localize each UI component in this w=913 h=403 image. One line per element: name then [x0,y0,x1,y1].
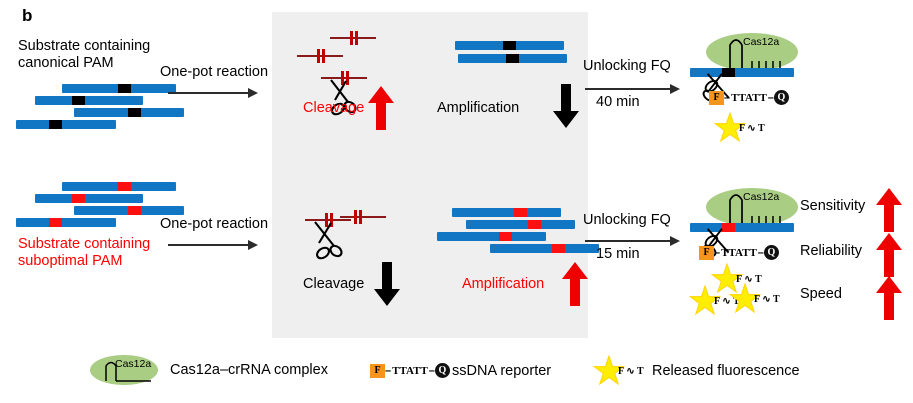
released-fluorescence-bottom-3: F ∿ T [728,283,762,322]
cas-label-top: Cas12a [743,36,779,48]
legend-wave-icon: ∿ [626,366,634,377]
cas-label-bottom: Cas12a [743,191,779,203]
fluor-f-top: F [739,123,745,134]
released-fluorescence-bottom-2: F ∿ T [688,285,722,324]
legend-label-fluorescence: Released fluorescence [652,363,800,379]
wave-icon-top: ∿ [747,123,755,134]
quencher-box-bottom: Q [764,245,779,260]
cleavage-label-bottom: Cleavage [303,276,364,293]
cleavage-trend-arrow-bottom [374,262,400,306]
amplification-label-bottom: Amplification [462,276,544,293]
ssdna-reporter-bottom: F – TTATT – Q [699,245,779,260]
amplification-trend-arrow-top [553,84,579,128]
outcome-label-speed: Speed [800,286,842,302]
reaction-arrow-shaft-bottom [168,244,249,246]
quencher-box-top: Q [774,90,789,105]
unlock-time-top: 40 min [596,94,640,111]
substrate-label-canonical: Substrate containing canonical PAM [18,38,150,72]
outcome-label-sensitivity: Sensitivity [800,198,865,214]
legend-quencher-box: Q [435,363,450,378]
outcome-trend-reliability [876,233,902,277]
cleavage-label-top: Cleavage [303,100,364,117]
legend-fluorophore-box: F [370,364,385,378]
unlock-time-bottom: 15 min [596,246,640,263]
unlock-arrow-head-bottom [670,236,680,246]
outcome-label-reliability: Reliability [800,243,862,259]
reporter-sequence-bottom: TTATT [720,247,758,259]
wave-icon-b3: ∿ [762,294,770,305]
unlock-arrow-shaft-top [585,88,671,90]
unlock-label-bottom: Unlocking FQ [583,212,671,229]
legend-cas-label: Cas12a [115,358,151,370]
unlock-arrow-shaft-bottom [585,240,671,242]
fluor-f-b3: F [754,294,760,305]
fluorophore-box-top: F [709,91,724,105]
amplification-trend-arrow-bottom [562,262,588,306]
reaction-arrow-head-bottom [248,240,258,250]
reaction-arrow-shaft-top [168,92,249,94]
legend-fluor-f: F [618,366,624,377]
cleavage-trend-arrow-top [368,86,394,130]
legend-reporter-sequence: TTATT [391,365,429,377]
legend-star-icon: F ∿ T [592,355,626,394]
legend-label-reporter: ssDNA reporter [452,363,551,379]
amplification-label-top: Amplification [437,100,519,117]
ssdna-reporter-top: F – TTATT – Q [709,90,789,105]
reaction-arrow-head-top [248,88,258,98]
legend-fluor-t: T [637,366,644,377]
reporter-sequence-top: TTATT [730,92,768,104]
panel-letter: b [22,6,32,26]
substrate-label-suboptimal: Substrate containing suboptimal PAM [18,236,150,270]
reaction-arrow-label-top: One-pot reaction [160,64,268,81]
unlock-label-top: Unlocking FQ [583,58,671,75]
fluor-t-b3: T [773,294,780,305]
scissors-icon-bottom [310,220,352,264]
unlock-arrow-head-top [670,84,680,94]
fluor-t-top: T [758,123,765,134]
legend-reporter-icon: F – TTATT – Q [370,363,450,378]
legend-label-complex: Cas12a–crRNA complex [170,362,328,378]
outcome-trend-sensitivity [876,188,902,232]
fluor-f-b2: F [714,296,720,307]
outcome-trend-speed [876,276,902,320]
reaction-arrow-label-bottom: One-pot reaction [160,216,268,233]
fluorophore-box-bottom: F [699,246,714,260]
released-fluorescence-top: F ∿ T [713,112,747,151]
